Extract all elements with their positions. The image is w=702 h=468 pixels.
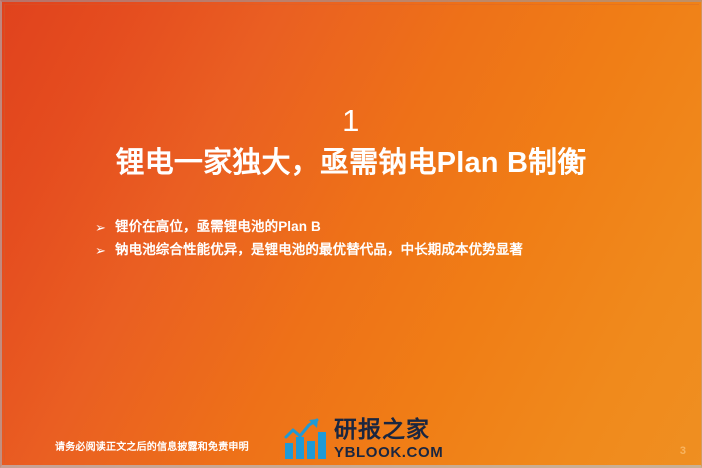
page-title: 锂电一家独大，亟需钠电Plan B制衡 bbox=[0, 144, 702, 182]
list-item: ➢ 锂价在高位，亟需锂电池的Plan B bbox=[95, 216, 635, 239]
page-number: 3 bbox=[680, 444, 686, 458]
slide-canvas: 1 锂电一家独大，亟需钠电Plan B制衡 ➢ 锂价在高位，亟需锂电池的Plan… bbox=[0, 0, 702, 468]
bar-chart-growth-icon bbox=[283, 417, 329, 461]
arrow-bullet-icon: ➢ bbox=[95, 216, 115, 239]
list-item-text: 锂价在高位，亟需锂电池的Plan B bbox=[115, 216, 635, 238]
footer-disclaimer: 请务必阅读正文之后的信息披露和免责申明 bbox=[55, 441, 249, 455]
watermark-logo: 研报之家 YBLOOK.COM bbox=[283, 415, 443, 463]
watermark-wordmark: 研报之家 YBLOOK.COM bbox=[334, 417, 443, 461]
watermark-brand-cn: 研报之家 bbox=[334, 417, 443, 442]
section-number: 1 bbox=[0, 104, 702, 138]
list-item-text: 钠电池综合性能优异，是锂电池的最优替代品，中长期成本优势显著 bbox=[115, 239, 635, 261]
watermark-brand-en: YBLOOK.COM bbox=[334, 444, 443, 461]
arrow-bullet-icon: ➢ bbox=[95, 239, 115, 262]
bullet-list: ➢ 锂价在高位，亟需锂电池的Plan B ➢ 钠电池综合性能优异，是锂电池的最优… bbox=[95, 216, 635, 262]
list-item: ➢ 钠电池综合性能优异，是锂电池的最优替代品，中长期成本优势显著 bbox=[95, 239, 635, 262]
